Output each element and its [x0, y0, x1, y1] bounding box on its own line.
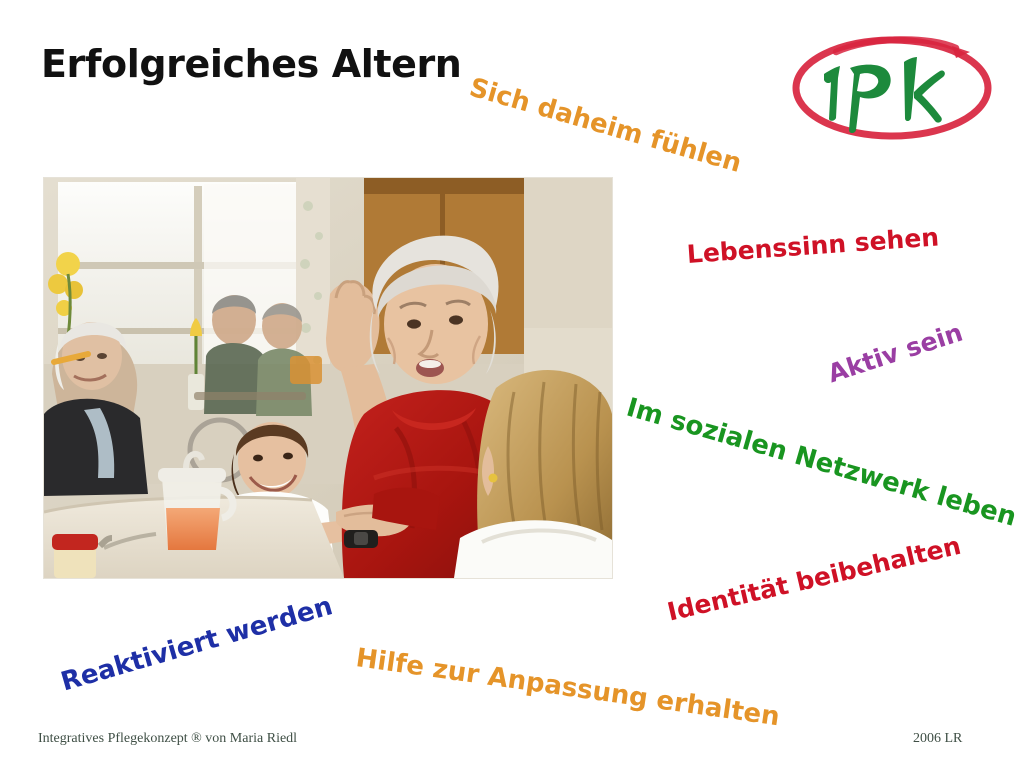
keyword-lebenssinn-sehen: Lebenssinn sehen: [686, 224, 940, 268]
logo-letters-icon: [824, 57, 945, 133]
keyword-reaktiviert-werden: Reaktiviert werden: [58, 593, 336, 697]
jar: [52, 534, 98, 578]
keyword-im-sozialen-netzwerk-leben: Im sozialen Netzwerk leben: [623, 395, 1019, 533]
keyword-identitaet-beibehalten: Identität beibehalten: [665, 533, 963, 626]
care-home-photo: [44, 178, 612, 578]
keyword-aktiv-sein: Aktiv sein: [825, 319, 966, 387]
keyword-sich-daheim-fuehlen: Sich daheim fühlen: [466, 75, 744, 179]
keyword-hilfe-zur-anpassung-erhalten: Hilfe zur Anpassung erhalten: [354, 645, 781, 732]
presentation-slide: Erfolgreiches Altern: [0, 0, 1024, 768]
footer-year: 2006 LR: [913, 731, 962, 747]
logo-ellipse-icon: [796, 39, 988, 136]
ipk-logo: [780, 22, 1005, 157]
page-title: Erfolgreiches Altern: [41, 42, 461, 86]
footer-attribution: Integratives Pflegekonzept ® von Maria R…: [38, 731, 297, 747]
